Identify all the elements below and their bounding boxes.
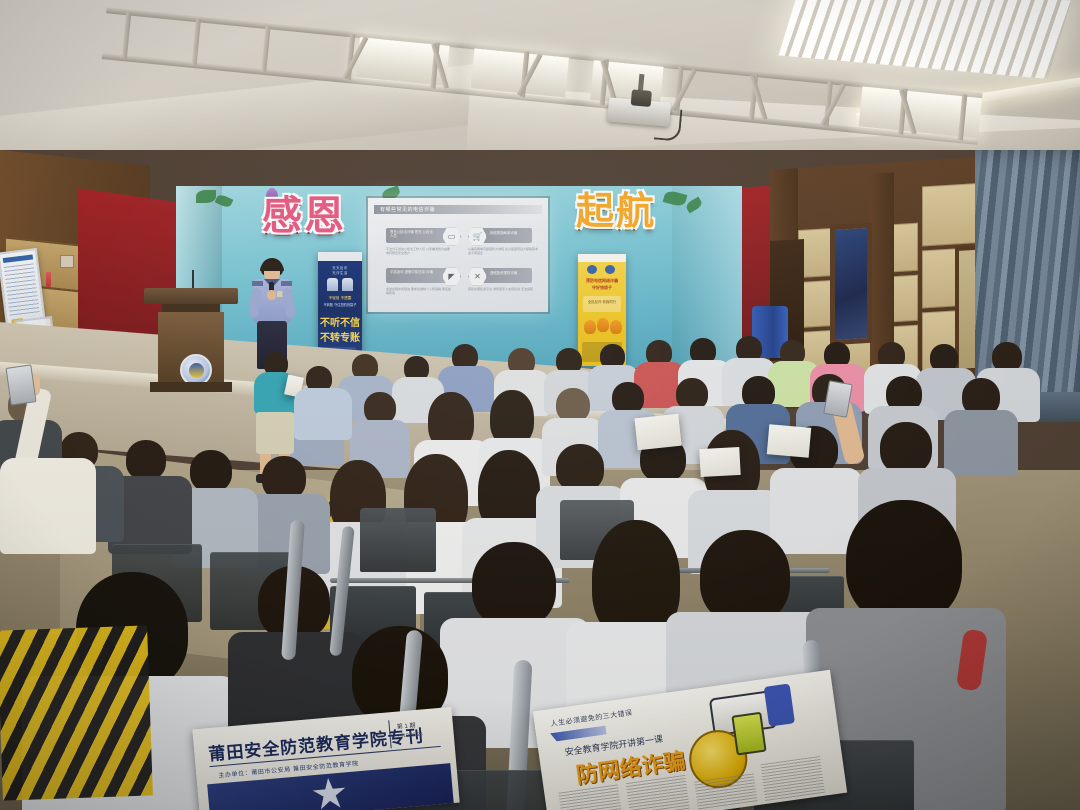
- attendee-head: [126, 440, 166, 480]
- standing-attendee-shorts: [256, 412, 294, 454]
- hazard-tape-floor: [0, 625, 153, 800]
- attendee-head: [556, 388, 590, 422]
- slide-card-label: 网络购物刷单诈骗: [490, 231, 534, 235]
- banner-yellow-sub: 全民反诈 你我同行: [578, 299, 626, 304]
- slide-title-text: 有哪些常见的电信诈骗: [380, 206, 435, 213]
- attendee-head: [556, 444, 604, 492]
- attendee-head-foreground: [846, 500, 962, 624]
- attendee-head: [700, 530, 790, 624]
- podium-mic-stand: [192, 270, 194, 290]
- slide-card-label: 虚假投资理财诈骗: [490, 271, 534, 275]
- water-bottle: [46, 272, 51, 287]
- banner-blue-subtop-right: 无诈生活: [318, 270, 362, 275]
- handout-right-kicker: 人生必须避免的三大错误: [550, 708, 633, 729]
- banner-blue-headline1: 不听不信: [318, 314, 362, 329]
- banner-yellow-headline1: 预防电信网络诈骗: [578, 278, 626, 284]
- slide-card-body: 搭建虚假投资平台 诱导受害人充值投资 无法提现: [468, 287, 538, 291]
- leaf-decor-icon: [196, 190, 216, 203]
- attendee-body: [0, 458, 96, 554]
- attendee-head: [472, 542, 556, 628]
- attendee-body: [294, 388, 352, 440]
- handout-left-masthead: 莆田安全防范教育学院专刊: [207, 721, 424, 765]
- police-star-emblem-icon: [311, 776, 348, 810]
- podium-top: [144, 288, 238, 304]
- slide-card-label: 冒充公检法诈骗 冒充 公检法人员: [390, 230, 434, 239]
- attendee-head: [880, 422, 932, 474]
- wall-switch-panel[interactable]: [60, 255, 74, 268]
- slide-card-label: 中奖返利 虚假中奖信息 诈骗: [390, 270, 434, 274]
- slide-card-body: 以兼职刷单高额返利为诱饵 先小额返现后大额骗取本金不再返还: [468, 247, 538, 255]
- handout-sheet: [634, 414, 681, 450]
- banner-blue-midline1: 不轻信 不透露: [318, 296, 362, 301]
- projection-screen: 有哪些常见的电信诈骗 冒充公检法诈骗 冒充 公检法人员 ▭ 不法分子冒充公检法工…: [368, 198, 548, 312]
- attendee-body: [944, 410, 1018, 476]
- backdrop-title-left-text: 感恩: [262, 193, 346, 239]
- smartphone[interactable]: [5, 364, 36, 405]
- handout-left-issue: 第 1 期: [396, 720, 415, 731]
- backdrop-title-left: 感恩: [262, 196, 382, 250]
- handout-sheet: [767, 424, 811, 458]
- backdrop-title-right: 起航: [576, 192, 696, 246]
- sleeve-icon: [764, 683, 795, 726]
- seat-back: [360, 508, 436, 572]
- slide-card-body: 不法分子冒充公检法工作人员 以涉嫌洗钱为由要求转账至安全账户: [386, 247, 452, 255]
- phone-scammer-icon: [731, 712, 766, 756]
- podium-neck: [162, 304, 220, 312]
- banner-header-strip: [318, 252, 362, 261]
- attendee-head: [190, 450, 232, 492]
- backdrop-title-right-text: 起航: [576, 189, 656, 233]
- banner-header-strip: [578, 254, 626, 262]
- slide-card-body: 发送虚假中奖短信 要求先缴纳个人所得税 保证金等费用: [386, 287, 452, 295]
- banner-blue-midline2: 不转账 守住您的钱袋子: [318, 302, 362, 307]
- ceiling-projector: [607, 93, 672, 132]
- lecture-hall-photo: 感恩 起航 有哪些常见的电信诈骗 冒充公检法诈骗 冒充 公检法人员 ▭ 不法分子…: [0, 0, 1080, 810]
- wall-display-frame: [830, 223, 872, 346]
- banner-yellow-headline2: 守好钱袋子: [578, 285, 626, 291]
- handout-sheet: [699, 447, 740, 477]
